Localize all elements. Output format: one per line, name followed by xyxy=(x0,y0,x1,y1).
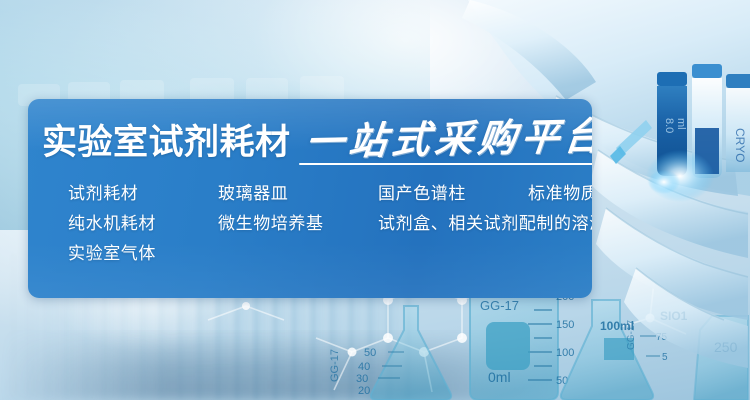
category-item-glassware[interactable]: 玻璃器皿 xyxy=(218,179,288,209)
svg-text:30: 30 xyxy=(356,373,368,385)
svg-text:50: 50 xyxy=(364,347,376,359)
info-panel: 实验室试剂耗材 一站式采购平台 试剂耗材 玻璃器皿 国产色谱柱 标准物质 纯水机… xyxy=(28,99,592,298)
svg-text:ml: ml xyxy=(675,118,687,130)
svg-text:CRYO: CRYO xyxy=(733,128,747,162)
svg-text:GG-17: GG-17 xyxy=(329,349,341,382)
promo-banner: 250 200 150 100 50 APPROX GG-17 0ml xyxy=(0,0,750,400)
headline: 实验室试剂耗材 一站式采购平台 xyxy=(42,117,578,167)
svg-text:8.0: 8.0 xyxy=(663,118,675,133)
svg-text:0ml: 0ml xyxy=(488,369,511,385)
beaker-brand-label: GG-17 xyxy=(480,298,519,313)
svg-text:40: 40 xyxy=(358,361,370,373)
headline-script-text: 一站式采购平台 xyxy=(303,116,592,160)
headline-underline xyxy=(299,163,592,165)
category-item-reagent-kits-solutions[interactable]: 试剂盒、相关试剂配制的溶液 xyxy=(378,209,592,239)
headline-script-wrapper: 一站式采购平台 xyxy=(304,120,592,165)
headline-main-text: 实验室试剂耗材 xyxy=(42,125,291,160)
category-row-1: 试剂耗材 玻璃器皿 国产色谱柱 标准物质 xyxy=(40,179,584,209)
category-item-microbial-culture-media[interactable]: 微生物培养基 xyxy=(218,209,324,239)
svg-text:100: 100 xyxy=(556,347,574,359)
category-item-reference-materials[interactable]: 标准物质 xyxy=(528,179,592,209)
category-list: 试剂耗材 玻璃器皿 国产色谱柱 标准物质 纯水机耗材 微生物培养基 试剂盒、相关… xyxy=(40,179,584,269)
svg-text:5: 5 xyxy=(662,352,668,363)
category-row-3: 实验室气体 xyxy=(40,239,584,269)
svg-text:20: 20 xyxy=(358,385,370,397)
category-item-laboratory-gases[interactable]: 实验室气体 xyxy=(68,239,156,269)
category-item-domestic-chromatography-column[interactable]: 国产色谱柱 xyxy=(378,179,466,209)
category-item-water-purifier-consumables[interactable]: 纯水机耗材 xyxy=(68,209,156,239)
svg-text:150: 150 xyxy=(556,319,574,331)
category-row-2: 纯水机耗材 微生物培养基 试剂盒、相关试剂配制的溶液 xyxy=(40,209,584,239)
svg-text:GG-17: GG-17 xyxy=(626,320,637,350)
category-item-reagent-consumables[interactable]: 试剂耗材 xyxy=(68,179,138,209)
